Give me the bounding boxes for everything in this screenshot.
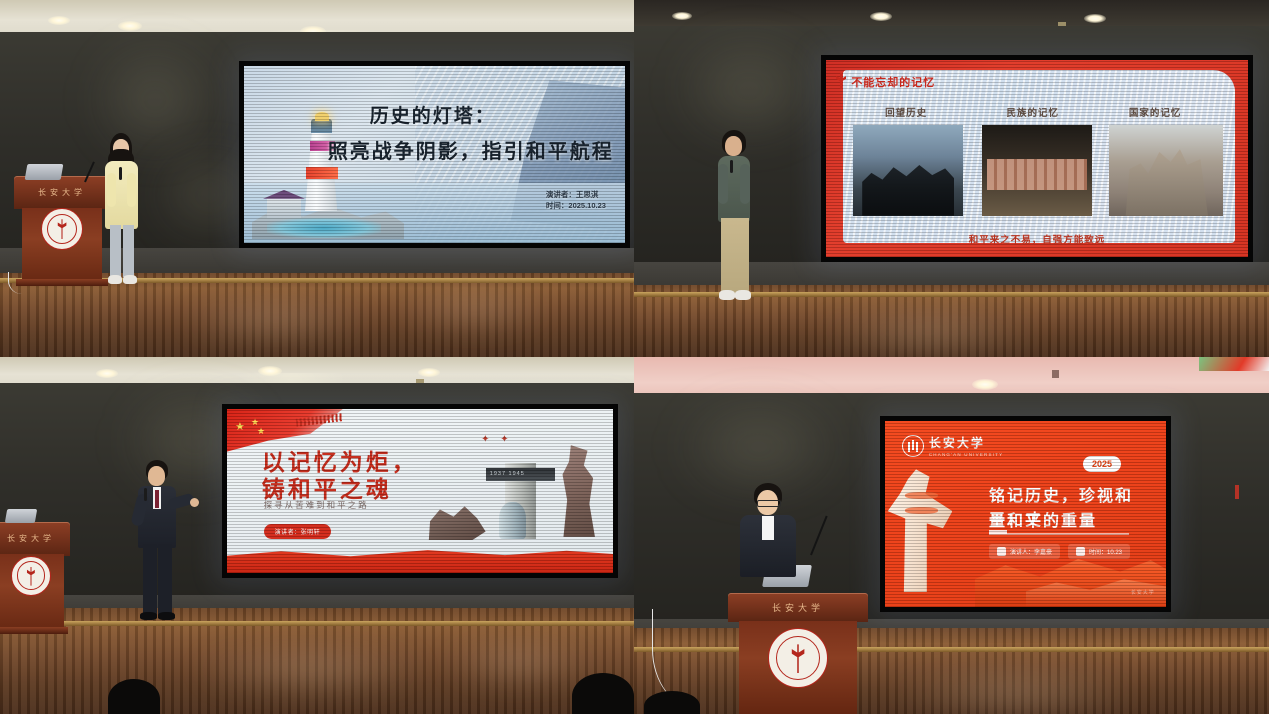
shoe-right: [158, 612, 175, 620]
audience-head: [108, 679, 160, 714]
slide-lighthouse-band: [306, 167, 339, 179]
star-icon: ★: [257, 427, 265, 436]
led-screen[interactable]: 长安大学 CHANG'AN UNIVERSITY 2025 铭记历史，珍视和平：…: [880, 416, 1171, 612]
slide-meta-speaker: 演讲者：王思淇: [546, 189, 606, 200]
slide-column-ring: [905, 492, 939, 499]
star-icon: ★: [235, 422, 245, 433]
panel-bottom-right[interactable]: 长安大学 CHANG'AN UNIVERSITY 2025 铭记历史，珍视和平：…: [634, 357, 1269, 714]
shoe-left: [140, 612, 157, 620]
leg-right: [158, 544, 172, 616]
chip-speaker: 演讲人：李嘉豪: [989, 544, 1060, 559]
floor-reflection: [884, 669, 1144, 714]
slide-title-line2: 量和平的重量: [989, 507, 1158, 531]
floor-reflection: [400, 292, 550, 326]
leg-right: [735, 218, 749, 294]
presenter: [128, 460, 208, 636]
downlight-icon: [118, 21, 142, 31]
downlight-icon: [870, 12, 892, 21]
stage-edge: [0, 621, 634, 626]
slide-info-chips: 演讲人：李嘉豪 时间：10.23: [989, 544, 1130, 559]
podium-label: 长安大学: [38, 187, 86, 198]
shoe-left: [719, 290, 735, 300]
microphone-icon: [730, 160, 733, 173]
arm-right: [127, 173, 136, 207]
slide-cottage: [267, 197, 301, 218]
ceiling-sensor-icon: [1052, 370, 1059, 378]
wall-sheen: [674, 34, 824, 144]
panel-bottom-left[interactable]: ★ ★ ★ ✦ ✦ 1937 1945 以记忆为炬， 铸和平之魂 探寻从苦难到和…: [0, 357, 634, 714]
slide-monument-plate: 1937 1945: [486, 468, 555, 481]
shoe-right: [735, 290, 751, 300]
university-seal-icon: [11, 556, 51, 596]
downlight-icon: [48, 16, 70, 25]
laptop-icon: [5, 509, 37, 523]
audience-head: [572, 673, 634, 714]
slide-photo: [982, 125, 1092, 216]
shoe-right: [123, 275, 137, 284]
podium-label: 长安大学: [7, 533, 55, 544]
slide-orange: 长安大学 CHANG'AN UNIVERSITY 2025 铭记历史，珍视和平：…: [885, 421, 1166, 607]
downlight-icon: [418, 368, 440, 377]
slide-watermark: 长安大学: [1131, 589, 1155, 596]
audience-head: [644, 691, 700, 714]
slide-column-ring: [905, 507, 939, 514]
floor-reflection: [814, 312, 1044, 354]
slide-memorial-column: [885, 469, 952, 592]
ceiling-light-strip: [1199, 357, 1269, 371]
floor-reflection: [440, 643, 600, 681]
arm-left: [718, 164, 728, 204]
slide-column-title: 国家的记忆: [1105, 105, 1206, 119]
chip-time: 时间：10.23: [1068, 544, 1130, 559]
slide-header: 不能忘却的记忆: [851, 74, 935, 90]
clock-chip-icon: [1076, 547, 1085, 556]
shirt: [762, 516, 774, 540]
wall-sheen: [674, 397, 844, 497]
microphone-icon: [144, 488, 147, 501]
floor-reflection: [190, 647, 430, 691]
slide-year-badge: 2025: [1083, 456, 1121, 472]
shoe-left: [108, 275, 122, 284]
podium-base: [0, 627, 68, 634]
arm-left: [107, 173, 116, 207]
panel-top-right[interactable]: 不能忘却的记忆 回望历史 民族的记忆 国家的记忆 和平来之不易，自强方能致远: [634, 0, 1269, 357]
laptop-icon: [25, 164, 64, 180]
slide-bell: [499, 502, 526, 538]
dove-icon: ✦ ✦: [481, 434, 513, 445]
leg-left: [721, 218, 735, 294]
university-seal-icon: [768, 628, 828, 688]
microphone-icon: [119, 167, 122, 180]
slide-title-line2: 照亮战争阴影，指引和平航程: [328, 135, 621, 164]
downlight-icon: [972, 379, 998, 390]
head: [148, 466, 165, 486]
photo-collage: 历史的灯塔： 照亮战争阴影，指引和平航程 演讲者：王思淇 时间：2025.10.…: [0, 0, 1269, 714]
slide-divider: [989, 533, 1130, 535]
university-logo: 长安大学 CHANG'AN UNIVERSITY: [902, 434, 1003, 457]
university-seal-icon: [41, 208, 83, 250]
slide-plate-text: 1937 1945: [490, 471, 525, 477]
slide-lighthouse-lamp: [315, 112, 329, 121]
slide-meta: 演讲者：王思淇 时间：2025.10.23: [546, 189, 606, 212]
glasses-icon: [757, 500, 781, 507]
chip-time-label: 时间：10.23: [1089, 547, 1122, 556]
slide-photo: [1109, 125, 1223, 216]
hand: [190, 498, 199, 507]
wall-marker: [1235, 485, 1239, 499]
panel-top-left[interactable]: 历史的灯塔： 照亮战争阴影，指引和平航程 演讲者：王思淇 时间：2025.10.…: [0, 0, 634, 357]
downlight-icon: [258, 366, 282, 376]
downlight-icon: [96, 369, 118, 378]
slide-badge: 演讲者：张明轩: [264, 524, 332, 539]
head: [725, 136, 742, 156]
presenter: [734, 483, 804, 613]
slide-column-title: 民族的记忆: [986, 105, 1079, 119]
leg-right: [123, 225, 134, 277]
presenter: [96, 133, 152, 290]
floor-reflection: [180, 300, 370, 340]
slide-column-title: 回望历史: [860, 105, 953, 119]
downlight-icon: [672, 12, 692, 20]
slide-rock: [424, 501, 486, 540]
university-seal-icon: [902, 435, 924, 457]
necktie: [155, 490, 159, 508]
chip-speaker-label: 演讲人：李嘉豪: [1010, 547, 1052, 556]
slide-lighthouse-cap: [311, 119, 332, 133]
slide-red-wave: [227, 545, 613, 573]
person-chip-icon: [997, 547, 1006, 556]
slide-statue: [555, 445, 601, 537]
downlight-icon: [1084, 14, 1106, 23]
slide-title-line1: 历史的灯塔：: [370, 101, 614, 128]
slide-lighthouse: 历史的灯塔： 照亮战争阴影，指引和平航程 演讲者：王思淇 时间：2025.10.…: [244, 66, 625, 243]
led-screen[interactable]: 不能忘却的记忆 回望历史 民族的记忆 国家的记忆 和平来之不易，自强方能致远: [821, 55, 1253, 262]
presenter: [708, 130, 764, 320]
led-screen[interactable]: ★ ★ ★ ✦ ✦ 1937 1945 以记忆为炬， 铸和平之魂 探寻从苦难到和…: [222, 404, 618, 578]
leg-left: [110, 225, 121, 277]
logo-name-cn: 长安大学: [929, 436, 985, 450]
slide-subtitle: 探寻从苦难到和平之路: [264, 499, 369, 511]
slide-memory: 不能忘却的记忆 回望历史 民族的记忆 国家的记忆 和平来之不易，自强方能致远: [826, 60, 1248, 257]
arm-right: [740, 164, 750, 204]
slide-torch: ★ ★ ★ ✦ ✦ 1937 1945 以记忆为炬， 铸和平之魂 探寻从苦难到和…: [227, 409, 613, 573]
logo-name-en: CHANG'AN UNIVERSITY: [929, 452, 1003, 457]
slide-meta-time: 时间：2025.10.23: [546, 200, 606, 211]
podium-top: 长安大学: [0, 522, 70, 556]
podium[interactable]: 长安大学: [0, 522, 70, 634]
slide-photo: [853, 125, 963, 216]
slide-footer: 和平来之不易，自强方能致远: [826, 232, 1248, 246]
slide-water-pool: [267, 218, 381, 237]
leg-left: [143, 544, 157, 616]
led-screen[interactable]: 历史的灯塔： 照亮战争阴影，指引和平航程 演讲者：王思淇 时间：2025.10.…: [239, 61, 630, 248]
